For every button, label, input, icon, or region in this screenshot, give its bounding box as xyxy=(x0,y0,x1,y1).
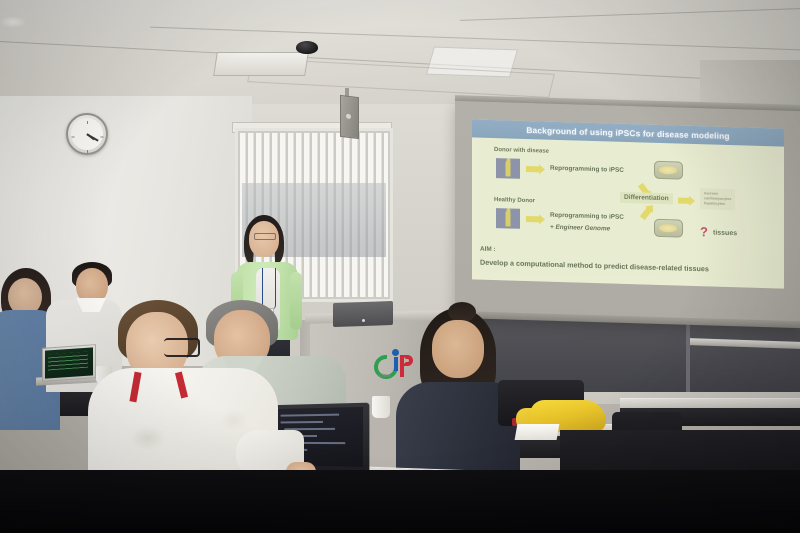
projection-screen: Background of using iPSCs for disease mo… xyxy=(455,101,800,326)
petri-dish-2-icon xyxy=(654,219,683,238)
arrow-reprogram-1-icon xyxy=(526,166,540,172)
notebook xyxy=(515,424,560,440)
wall-clock xyxy=(66,113,108,155)
donor-disease-figure xyxy=(496,158,520,179)
petri-dish-1-icon xyxy=(654,161,683,180)
slide-aim-text: Develop a computational method to predic… xyxy=(480,258,709,274)
logo-letter-i-dot xyxy=(392,349,399,356)
ceiling-speaker xyxy=(340,95,359,139)
smoke-detector-icon xyxy=(296,41,318,54)
logo-letter-i-stem xyxy=(394,357,398,371)
cira-logo: CiRA xyxy=(374,345,416,379)
slide-aim-label: AIM : xyxy=(480,246,496,253)
whiteboard-edge xyxy=(686,320,690,392)
slide-text-reprogram-1: Reprogramming to iPSC xyxy=(550,165,624,174)
logo-text: CiRA xyxy=(379,373,391,378)
attendee-5-hair-bun xyxy=(448,302,476,322)
clock-face xyxy=(71,118,103,150)
arrow-to-differentiation-2-icon xyxy=(640,207,652,220)
healthy-donor-figure xyxy=(496,208,520,229)
ceiling-vent xyxy=(213,52,309,76)
floor xyxy=(0,470,800,533)
presenter-glasses xyxy=(254,233,276,240)
arrow-to-celltypes-icon xyxy=(678,197,690,203)
laptop-2[interactable] xyxy=(42,344,96,382)
seminar-room-photo: Background of using iPSCs for disease mo… xyxy=(0,0,800,533)
presentation-slide: Background of using iPSCs for disease mo… xyxy=(472,119,784,288)
slide-text-engineer-genome: + Engineer Genome xyxy=(550,224,610,233)
slide-text-tissues: tissues xyxy=(713,230,737,238)
cell-types-list: neurons cardiomyocytes hepatocytes xyxy=(700,188,735,210)
laptop-2-screen xyxy=(45,347,93,378)
question-mark: ? xyxy=(700,224,708,239)
slide-text-reprogram-2: Reprogramming to iPSC xyxy=(550,212,624,221)
ceiling-light xyxy=(0,16,26,28)
logo-letter-c xyxy=(369,350,403,384)
logo-letter-p xyxy=(400,355,413,377)
slide-text-differentiation: Differentiation xyxy=(620,192,673,205)
podium-monitor[interactable] xyxy=(333,301,393,327)
presenter-arm-right xyxy=(290,272,302,330)
paper-cup-1 xyxy=(372,396,390,418)
arrow-reprogram-2-icon xyxy=(526,216,540,222)
cell-type-2: hepatocytes xyxy=(704,201,731,207)
slide-label-healthy-donor: Healthy Donor xyxy=(494,197,535,204)
presenter-lanyard xyxy=(262,268,276,310)
attendee-5-head xyxy=(432,320,484,378)
podium-monitor-indicator xyxy=(362,319,365,322)
slide-title: Background of using iPSCs for disease mo… xyxy=(472,119,784,146)
slide-label-donor-disease: Donor with disease xyxy=(494,147,549,155)
attendee-3-glasses xyxy=(164,338,200,357)
